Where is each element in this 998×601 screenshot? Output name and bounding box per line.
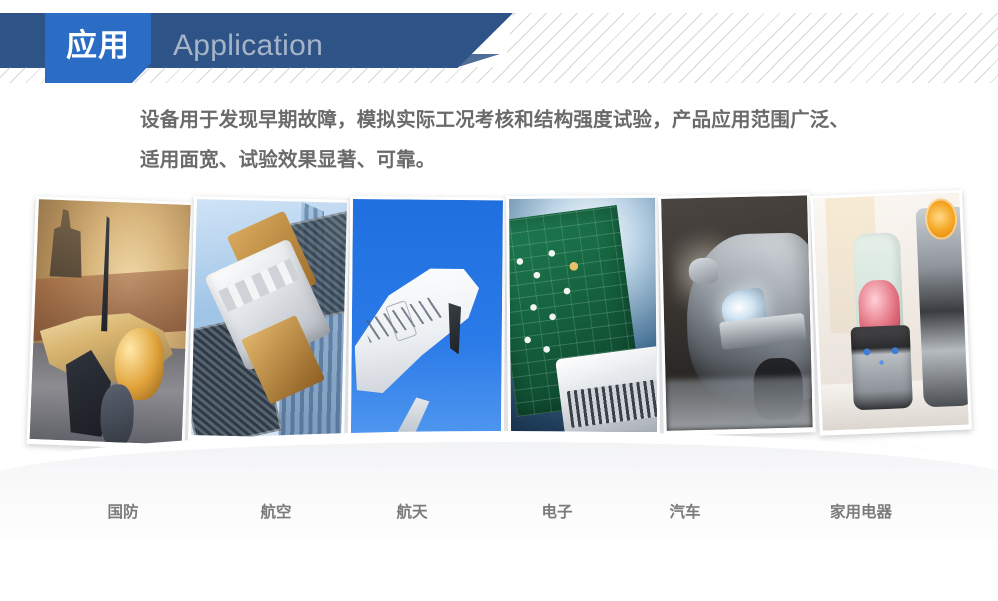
header-hatch-stripes [0,67,998,83]
caption-aviation: 航空 [260,496,291,530]
gallery-item-aerospace[interactable] [348,196,506,439]
aerospace-photo [351,199,503,434]
section-tag-label: 应用 [66,30,130,61]
section-title-english: Application [173,31,323,61]
gallery-item-electronic[interactable] [506,195,660,438]
page-header: 应用 Application [0,0,998,95]
intro-line-2: 适用面宽、试验效果显著、可靠。 [140,140,980,180]
appliance-photo [813,193,969,431]
application-gallery [0,196,998,496]
header-hatch-upper [505,13,998,67]
aviation-photo [191,199,347,439]
intro-line-1: 设备用于发现早期故障，模拟实际工况考核和结构强度试验，产品应用范围广泛、 [140,100,980,140]
gallery-item-appliance[interactable] [810,190,972,436]
caption-electronic: 电子 [541,496,572,530]
section-tag: 应用 [45,13,151,83]
gallery-captions: 国防 航空 航天 电子 汽车 家用电器 [0,496,998,542]
intro-paragraph: 设备用于发现早期故障，模拟实际工况考核和结构强度试验，产品应用范围广泛、 适用面… [140,100,980,180]
gallery-item-aviation[interactable] [188,196,350,444]
electronic-photo [509,198,657,433]
defense-photo [30,199,191,445]
caption-aerospace: 航天 [396,496,427,530]
caption-automotive: 汽车 [669,496,700,530]
automotive-photo [661,195,813,430]
gallery-item-automotive[interactable] [658,192,816,436]
caption-appliance: 家用电器 [830,496,892,530]
gallery-item-defense[interactable] [26,196,193,450]
footer-space [0,540,998,601]
caption-defense: 国防 [107,496,138,530]
